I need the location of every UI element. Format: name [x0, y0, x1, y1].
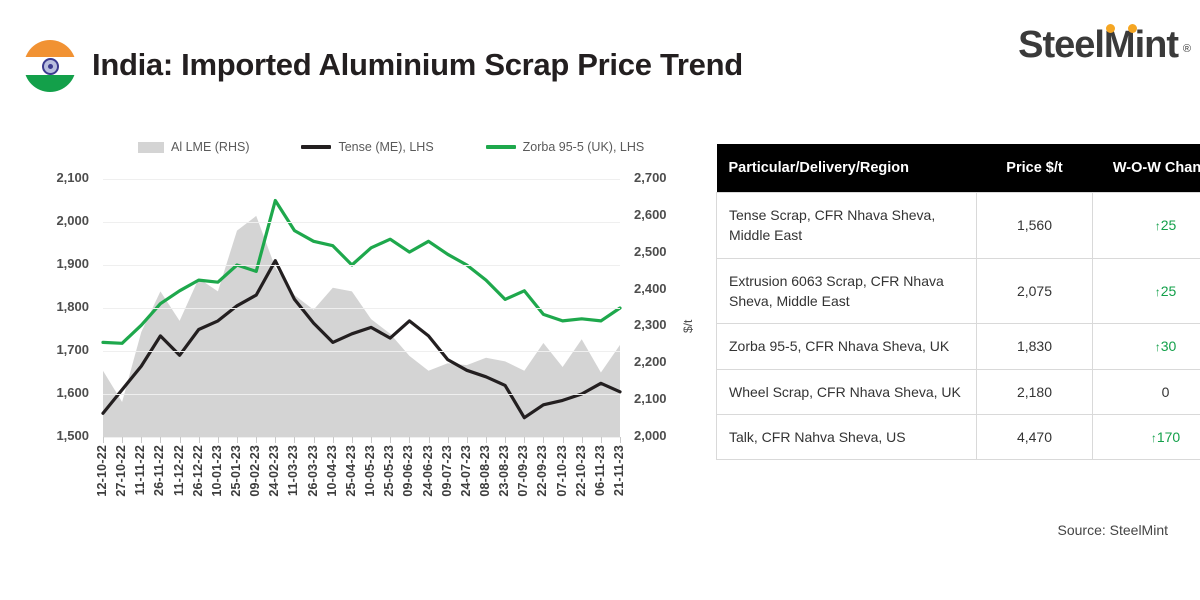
registered-trademark-icon: ® — [1183, 26, 1190, 72]
x-axis-tick-label: 25-05-23 — [382, 445, 396, 497]
cell-particular: Wheel Scrap, CFR Nhava Sheva, UK — [717, 369, 977, 414]
x-axis-tick-label: 11-11-22 — [133, 445, 147, 495]
x-axis-tickmark — [160, 437, 161, 443]
x-axis-tickmark — [390, 437, 391, 443]
x-axis-tickmark — [352, 437, 353, 443]
y-axis-right-tick: 2,000 — [634, 428, 667, 443]
status-badge-increase: ↑30 — [1155, 338, 1177, 354]
steelmint-logo: SteelMint ® — [1018, 22, 1178, 68]
cell-wow-change: ↑170 — [1093, 414, 1200, 459]
x-axis-tick-label: 07-10-23 — [555, 445, 569, 497]
brand-dot-right-icon — [1128, 24, 1137, 33]
area-swatch-icon — [138, 142, 164, 153]
x-axis-tickmark — [543, 437, 544, 443]
y-axis-left-tick: 1,500 — [56, 428, 89, 443]
column-header-price: Price $/t — [977, 144, 1093, 193]
brand-wordmark: SteelMint ® — [1018, 22, 1178, 68]
cell-wow-change: ↑30 — [1093, 324, 1200, 369]
arrow-up-icon: ↑ — [1155, 285, 1161, 299]
x-axis-tickmark — [371, 437, 372, 443]
x-axis-tick-label: 09-02-23 — [248, 445, 262, 497]
x-axis-tickmark — [524, 437, 525, 443]
x-axis-tickmark — [429, 437, 430, 443]
x-axis-tick-label: 24-06-23 — [421, 445, 435, 497]
legend-item-zorba: Zorba 95-5 (UK), LHS — [486, 140, 645, 154]
status-badge-increase: ↑170 — [1151, 429, 1180, 445]
x-axis-tick-label: 10-04-23 — [325, 445, 339, 497]
page-title: India: Imported Aluminium Scrap Price Tr… — [92, 47, 743, 83]
cell-price: 4,470 — [977, 414, 1093, 459]
x-axis-tick-label: 10-05-23 — [363, 445, 377, 497]
arrow-up-icon: ↑ — [1155, 219, 1161, 233]
flag-band-green — [24, 75, 76, 92]
cell-particular: Zorba 95-5, CFR Nhava Sheva, UK — [717, 324, 977, 369]
x-axis-tick-label: 09-06-23 — [401, 445, 415, 497]
status-badge-increase: ↑25 — [1155, 283, 1177, 299]
status-badge-increase: ↑25 — [1155, 217, 1177, 233]
arrow-up-icon: ↑ — [1155, 340, 1161, 354]
cell-wow-change: ↑25 — [1093, 193, 1200, 259]
gridline — [103, 308, 620, 309]
gridline — [103, 179, 620, 180]
table-row: Extrusion 6063 Scrap, CFR Nhava Sheva, M… — [717, 258, 1200, 324]
legend-label-tense: Tense (ME), LHS — [338, 140, 433, 154]
legend-label-al-lme: Al LME (RHS) — [171, 140, 249, 154]
x-axis-tick-label: 06-11-23 — [593, 445, 607, 496]
india-flag-icon — [24, 40, 76, 92]
column-header-change: W-O-W Change — [1093, 144, 1200, 193]
ashoka-chakra-icon — [42, 58, 59, 75]
x-axis-tickmark — [237, 437, 238, 443]
arrow-up-icon: ↑ — [1151, 431, 1157, 445]
y-axis-right-tick: 2,400 — [634, 281, 667, 296]
gridline — [103, 351, 620, 352]
table-row: Wheel Scrap, CFR Nhava Sheva, UK2,1800 — [717, 369, 1200, 414]
cell-particular: Talk, CFR Nahva Sheva, US — [717, 414, 977, 459]
price-trend-chart: Al LME (RHS) Tense (ME), LHS Zorba 95-5 … — [0, 118, 700, 538]
flag-band-saffron — [24, 40, 76, 57]
cell-price: 1,560 — [977, 193, 1093, 259]
y-axis-left-tick: 1,900 — [56, 256, 89, 271]
x-axis-tickmark — [103, 437, 104, 443]
chart-legend: Al LME (RHS) Tense (ME), LHS Zorba 95-5 … — [138, 140, 644, 154]
cell-wow-change: 0 — [1093, 369, 1200, 414]
x-axis-tick-label: 25-01-23 — [229, 445, 243, 497]
x-axis-tickmark — [467, 437, 468, 443]
y-axis-left-tick: 1,700 — [56, 342, 89, 357]
y-axis-right-tick: 2,600 — [634, 207, 667, 222]
status-badge-flat: 0 — [1162, 384, 1170, 400]
x-axis-tickmark — [122, 437, 123, 443]
legend-item-tense: Tense (ME), LHS — [301, 140, 433, 154]
gridline — [103, 265, 620, 266]
x-axis-tickmark — [218, 437, 219, 443]
cell-wow-change: ↑25 — [1093, 258, 1200, 324]
cell-price: 1,830 — [977, 324, 1093, 369]
x-axis-tick-label: 24-02-23 — [267, 445, 281, 497]
x-axis-tickmark — [448, 437, 449, 443]
page-header: India: Imported Aluminium Scrap Price Tr… — [0, 0, 1200, 118]
x-axis-tickmark — [180, 437, 181, 443]
x-axis-tick-label: 10-01-23 — [210, 445, 224, 497]
x-axis-tickmark — [294, 437, 295, 443]
table-row: Talk, CFR Nahva Sheva, US4,470↑170 — [717, 414, 1200, 459]
x-axis-tickmark — [199, 437, 200, 443]
column-header-particular: Particular/Delivery/Region — [717, 144, 977, 193]
x-axis-tickmark — [582, 437, 583, 443]
y-axis-left-tick: 2,000 — [56, 213, 89, 228]
legend-item-al-lme: Al LME (RHS) — [138, 140, 249, 154]
price-table: Particular/Delivery/Region Price $/t W-O… — [716, 144, 1200, 460]
x-axis-tick-label: 26-12-22 — [191, 445, 205, 497]
table-row: Zorba 95-5, CFR Nhava Sheva, UK1,830↑30 — [717, 324, 1200, 369]
line-swatch-black-icon — [301, 145, 331, 149]
y-axis-right-tick: 2,200 — [634, 354, 667, 369]
x-axis-tick-label: 25-04-23 — [344, 445, 358, 497]
cell-price: 2,180 — [977, 369, 1093, 414]
x-axis-tickmark — [620, 437, 621, 443]
cell-particular: Tense Scrap, CFR Nhava Sheva, Middle Eas… — [717, 193, 977, 259]
x-axis-tick-label: 26-11-22 — [152, 445, 166, 496]
x-axis-tick-label: 24-07-23 — [459, 445, 473, 497]
line-swatch-green-icon — [486, 145, 516, 149]
x-axis-tick-label: 22-10-23 — [574, 445, 588, 497]
brand-dot-left-icon — [1106, 24, 1115, 33]
x-axis-tickmark — [486, 437, 487, 443]
y-axis-right-tick: 2,500 — [634, 244, 667, 259]
gridline — [103, 222, 620, 223]
x-axis-tick-label: 09-07-23 — [440, 445, 454, 497]
cell-particular: Extrusion 6063 Scrap, CFR Nhava Sheva, M… — [717, 258, 977, 324]
y-axis-right-tick: 2,300 — [634, 317, 667, 332]
x-axis-tick-label: 27-10-22 — [114, 445, 128, 497]
legend-label-zorba: Zorba 95-5 (UK), LHS — [523, 140, 645, 154]
y-axis-right-title: $/t — [681, 320, 695, 333]
x-axis-tick-label: 07-09-23 — [516, 445, 530, 497]
price-table-container: Particular/Delivery/Region Price $/t W-O… — [716, 144, 1166, 460]
x-axis-tickmark — [563, 437, 564, 443]
table-row: Tense Scrap, CFR Nhava Sheva, Middle Eas… — [717, 193, 1200, 259]
x-axis-tickmark — [141, 437, 142, 443]
x-axis-tickmark — [256, 437, 257, 443]
x-axis-tickmark — [314, 437, 315, 443]
x-axis-tick-label: 12-10-22 — [95, 445, 109, 497]
x-axis-tick-label: 26-03-23 — [306, 445, 320, 497]
x-axis-tickmark — [275, 437, 276, 443]
source-note: Source: SteelMint — [1058, 522, 1169, 538]
y-axis-left-tick: 2,100 — [56, 170, 89, 185]
x-axis-tickmark — [601, 437, 602, 443]
x-axis-tick-label: 08-08-23 — [478, 445, 492, 497]
x-axis-tickmark — [505, 437, 506, 443]
x-axis-tickmark — [409, 437, 410, 443]
x-axis-tick-label: 11-03-23 — [286, 445, 300, 496]
x-axis-tick-label: 21-11-23 — [612, 445, 626, 496]
x-axis-tick-label: 23-08-23 — [497, 445, 511, 497]
x-axis-tickmark — [333, 437, 334, 443]
y-axis-left-tick: 1,600 — [56, 385, 89, 400]
gridline — [103, 394, 620, 395]
table-body: Tense Scrap, CFR Nhava Sheva, Middle Eas… — [717, 193, 1200, 460]
table-header: Particular/Delivery/Region Price $/t W-O… — [717, 144, 1200, 193]
y-axis-left-tick: 1,800 — [56, 299, 89, 314]
brand-name: SteelMint — [1018, 24, 1178, 66]
x-axis-tick-label: 11-12-22 — [172, 445, 186, 496]
cell-price: 2,075 — [977, 258, 1093, 324]
x-axis-tick-label: 22-09-23 — [535, 445, 549, 497]
y-axis-right-tick: 2,100 — [634, 391, 667, 406]
plot-area: 1,5001,6001,7001,8001,9002,0002,1002,000… — [103, 179, 620, 437]
table-header-row: Particular/Delivery/Region Price $/t W-O… — [717, 144, 1200, 193]
y-axis-right-tick: 2,700 — [634, 170, 667, 185]
